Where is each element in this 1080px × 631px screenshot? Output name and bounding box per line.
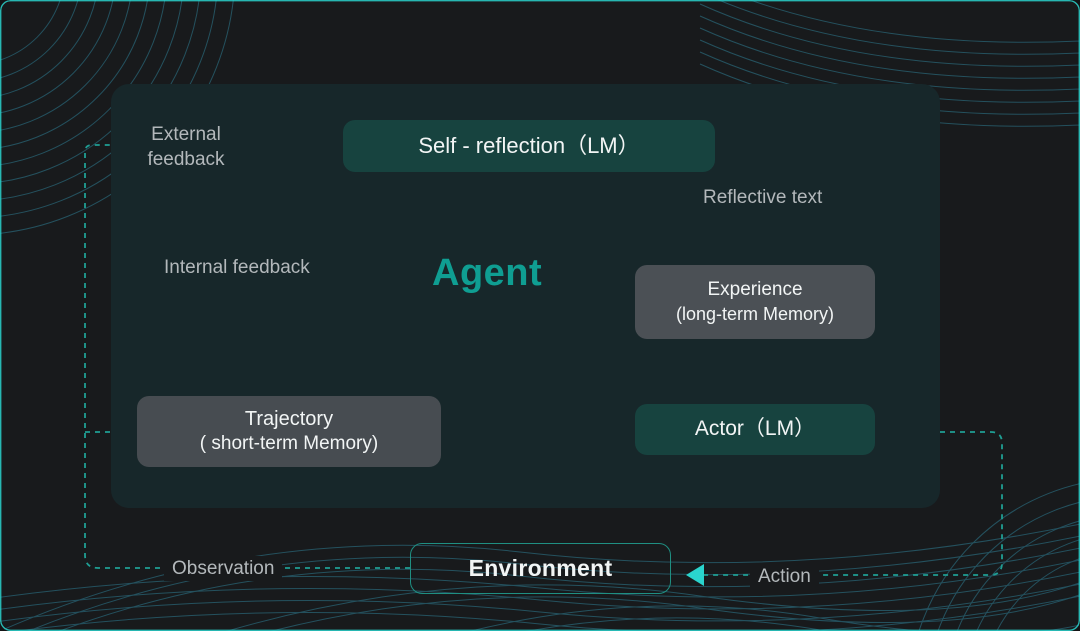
arrowhead-to-environment (686, 564, 704, 586)
label-action: Action (750, 564, 819, 589)
node-self-reflection[interactable]: Self - reflection（LM） (343, 120, 715, 172)
node-environment[interactable]: Environment (410, 543, 671, 594)
diagram-canvas: Agent Self - reflection（LM） Experience (… (0, 0, 1080, 631)
node-trajectory-subtitle: ( short-term Memory) (200, 433, 378, 455)
label-external-feedback: External feedback (136, 122, 236, 172)
node-experience[interactable]: Experience (long-term Memory) (635, 265, 875, 339)
agent-title: Agent (432, 252, 542, 295)
node-environment-label: Environment (469, 555, 613, 582)
node-self-reflection-label: Self - reflection（LM） (418, 133, 639, 159)
node-trajectory[interactable]: Trajectory ( short-term Memory) (137, 396, 441, 467)
node-experience-title: Experience (707, 279, 802, 301)
label-internal-feedback: Internal feedback (164, 255, 310, 280)
label-reflective-text: Reflective text (703, 185, 822, 210)
node-actor-label: Actor（LM） (695, 417, 815, 442)
node-actor[interactable]: Actor（LM） (635, 404, 875, 455)
node-trajectory-title: Trajectory (245, 408, 333, 432)
label-observation: Observation (164, 556, 282, 581)
node-experience-subtitle: (long-term Memory) (676, 304, 834, 325)
